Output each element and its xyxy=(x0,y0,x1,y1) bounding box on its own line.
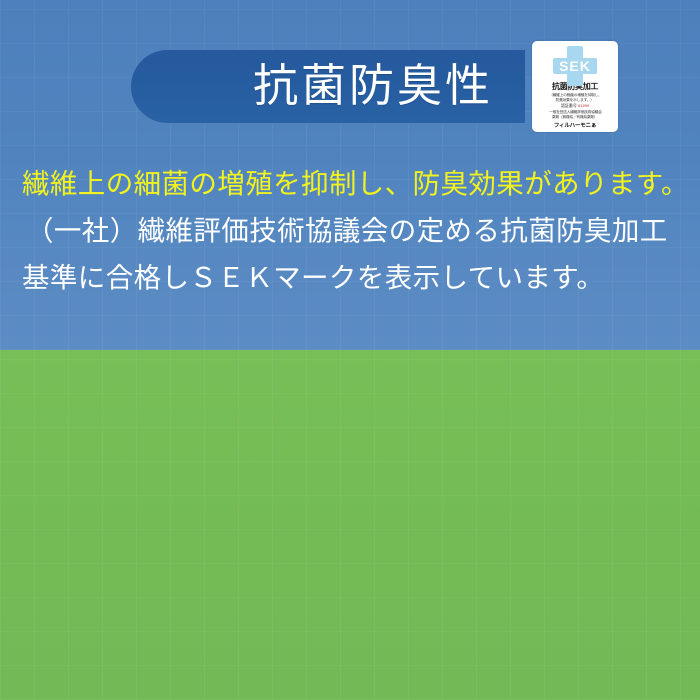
copy-line-3: 基準に合格しＳＥＫマークを表示しています。 xyxy=(22,254,678,301)
sek-cert-number-value: 61299 xyxy=(578,103,589,108)
copy-line-1: 繊維上の細菌の増殖を抑制し、防臭効果があります。 xyxy=(22,160,678,207)
sek-cert-number-row: 認証番号 61299 xyxy=(561,103,589,109)
sek-brand-name: フィルハーモニぁ xyxy=(554,121,596,129)
sek-cert-number-label: 認証番号 xyxy=(561,103,577,108)
feature-poster: 抗菌防臭性 SEK 抗菌防臭加工 （繊維上の細菌の増殖を抑制し、 防臭効果を示し… xyxy=(0,0,700,700)
section-antibacterial: 抗菌防臭性 SEK 抗菌防臭加工 （繊維上の細菌の増殖を抑制し、 防臭効果を示し… xyxy=(0,0,700,350)
sek-org-name: 一般社団法人繊維評価技術協議会 xyxy=(549,109,601,114)
sek-badge: SEK 抗菌防臭加工 （繊維上の細菌の増殖を抑制し、 防臭効果を示します。） 認… xyxy=(532,41,618,132)
sek-cross-icon: SEK xyxy=(553,46,597,79)
sek-agent-type: 薬剤（無機系／有機系薬剤） xyxy=(552,114,597,119)
body-copy-antibacterial: 繊維上の細菌の増殖を抑制し、防臭効果があります。 （一社）繊維評価技術協議会の定… xyxy=(0,160,700,301)
sek-fine-line-2: 防臭効果を示します。） xyxy=(556,98,594,103)
sek-letters: SEK xyxy=(553,57,597,75)
title-pill-antibacterial: 抗菌防臭性 xyxy=(131,50,525,123)
fabric-texture-overlay xyxy=(0,350,700,700)
section-antimite: 防ダニ性 インテリアファブリックス性能評価協議会の防ダニ 加工増殖抑制効果の認定… xyxy=(0,350,700,700)
copy-line-2: （一社）繊維評価技術協議会の定める抗菌防臭加工 xyxy=(22,207,678,254)
title-label-antibacterial: 抗菌防臭性 xyxy=(253,64,493,109)
